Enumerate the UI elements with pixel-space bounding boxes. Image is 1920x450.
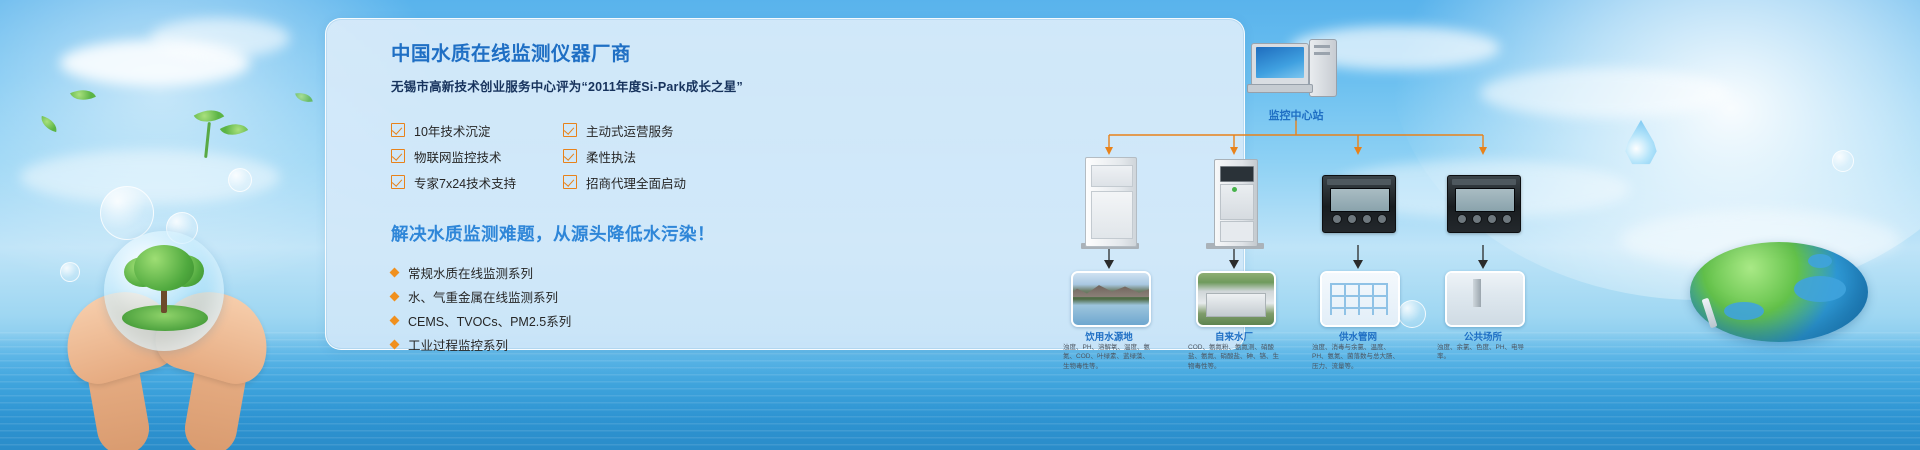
- scene-description: COD、氨氮粉、氨氮测、硝酸盐、氨氮、硝酸盐、砷、铬、生物毒性等。: [1188, 343, 1280, 371]
- feature-label: 招商代理全面启动: [586, 173, 686, 192]
- status-led-icon: [1232, 187, 1237, 192]
- device-panel: [1220, 184, 1254, 220]
- diamond-bullet-icon: [390, 339, 400, 349]
- scene-photo: [1445, 271, 1525, 327]
- scene-photo-art: [1073, 273, 1149, 325]
- pc-screen-content: [1256, 47, 1304, 78]
- section-headline: 解决水质监测难题，从源头降低水污染！: [391, 221, 761, 246]
- feature-label: 柔性执法: [586, 147, 636, 166]
- controller-buttons: [1457, 214, 1512, 224]
- product-line-list: 常规水质在线监测系列 水、气重金属在线监测系列 CEMS、TVOCs、PM2.5…: [391, 260, 761, 356]
- device-black-controller-2: [1441, 157, 1525, 249]
- cloud-icon: [150, 18, 290, 58]
- scene-photo-art: [1447, 273, 1523, 325]
- cabinet-body: [1085, 157, 1137, 247]
- device-grey-cabinet: [1192, 157, 1276, 249]
- controller-buttons: [1332, 214, 1387, 224]
- pc-monitor-icon: [1251, 43, 1309, 86]
- product-line-label: 水、气重金属在线监测系列: [408, 287, 558, 306]
- controller-top-strip: [1327, 179, 1391, 185]
- copy-block: 中国水质在线监测仪器厂商 无锡市高新技术创业服务中心评为“2011年度Si-Pa…: [391, 43, 761, 356]
- controller-body: [1447, 175, 1521, 233]
- feature-item: 柔性执法: [563, 143, 725, 169]
- content-card: 中国水质在线监测仪器厂商 无锡市高新技术创业服务中心评为“2011年度Si-Pa…: [325, 18, 1245, 350]
- feature-checklist: 10年技术沉淀 主动式运营服务 物联网监控技术 柔性执法 专家7x24技术支持: [391, 117, 761, 195]
- checkbox-checked-icon: [391, 175, 405, 189]
- scene-caption: 饮用水源地: [1054, 329, 1164, 343]
- feature-label: 专家7x24技术支持: [414, 173, 516, 192]
- feature-item: 招商代理全面启动: [563, 169, 725, 195]
- water-drop-icon: [1624, 120, 1658, 166]
- device-panel: [1220, 221, 1254, 242]
- stem-icon: [204, 122, 211, 158]
- globe-water-patch: [1808, 254, 1832, 268]
- pc-keyboard-icon: [1247, 84, 1313, 93]
- device-black-controller-1: [1316, 157, 1400, 249]
- controller-display: [1330, 188, 1390, 212]
- product-line-label: CEMS、TVOCs、PM2.5系列: [408, 311, 571, 330]
- device-display: [1220, 166, 1254, 182]
- feature-item: 主动式运营服务: [563, 117, 725, 143]
- feature-item: 专家7x24技术支持: [391, 169, 553, 195]
- leaf-icon: [220, 117, 248, 142]
- bubble-icon: [1832, 150, 1854, 172]
- green-globe-illustration: [1690, 236, 1868, 348]
- product-line-label: 工业过程监控系列: [408, 335, 508, 354]
- controller-top-strip: [1452, 179, 1516, 185]
- scene-photo: [1320, 271, 1400, 327]
- feature-label: 物联网监控技术: [414, 147, 502, 166]
- scene-description: 浊度、消毒与余氯、温度、PH、氨氮、菌落数与总大肠、压力、流量等。: [1312, 343, 1404, 371]
- tree-foliage-icon: [134, 245, 194, 291]
- scene-description: 浊度、PH、溶解氧、温度、氨氮、COD、叶绿素、蓝绿藻、生物毒性等。: [1063, 343, 1155, 371]
- product-line-label: 常规水质在线监测系列: [408, 263, 533, 282]
- scene-photo: [1071, 271, 1151, 327]
- scene-caption: 供水管网: [1303, 329, 1413, 343]
- checkbox-checked-icon: [563, 175, 577, 189]
- scene-description: 浊度、余氯、色度、PH、电导率。: [1437, 343, 1529, 362]
- scene-photo-art: [1322, 273, 1398, 325]
- diamond-bullet-icon: [390, 315, 400, 325]
- monitoring-topology-diagram: 监控中心站: [1061, 31, 1531, 349]
- cabinet-body: [1214, 159, 1258, 247]
- page-title: 中国水质在线监测仪器厂商: [391, 43, 761, 66]
- controller-body: [1322, 175, 1396, 233]
- pc-tower-icon: [1309, 39, 1337, 97]
- diamond-bullet-icon: [390, 291, 400, 301]
- hands-holding-tree-illustration: [62, 225, 282, 425]
- scene-caption: 公共场所: [1428, 329, 1538, 343]
- checkbox-checked-icon: [563, 123, 577, 137]
- cloud-icon: [60, 40, 250, 86]
- device-white-cabinet: [1067, 157, 1151, 249]
- bubble-icon: [228, 168, 252, 192]
- list-item: CEMS、TVOCs、PM2.5系列: [391, 308, 761, 332]
- checkbox-checked-icon: [563, 149, 577, 163]
- scene-photo: [1196, 271, 1276, 327]
- list-item: 常规水质在线监测系列: [391, 260, 761, 284]
- monitoring-center-computer-icon: [1251, 43, 1343, 101]
- leaf-icon: [39, 116, 59, 132]
- page-subtitle: 无锡市高新技术创业服务中心评为“2011年度Si-Park成长之星”: [391, 76, 761, 95]
- scene-photo-art: [1198, 273, 1274, 325]
- feature-label: 主动式运营服务: [586, 121, 674, 140]
- checkbox-checked-icon: [391, 149, 405, 163]
- leaf-icon: [295, 91, 313, 105]
- leaf-icon: [70, 84, 96, 106]
- diamond-bullet-icon: [390, 267, 400, 277]
- globe-water-patch: [1724, 302, 1764, 320]
- list-item: 工业过程监控系列: [391, 332, 761, 356]
- scene-caption: 自来水厂: [1179, 329, 1289, 343]
- center-station-label: 监控中心站: [1221, 107, 1371, 123]
- feature-item: 物联网监控技术: [391, 143, 553, 169]
- list-item: 水、气重金属在线监测系列: [391, 284, 761, 308]
- controller-display: [1455, 188, 1515, 212]
- feature-item: 10年技术沉淀: [391, 117, 553, 143]
- banner-stage: 中国水质在线监测仪器厂商 无锡市高新技术创业服务中心评为“2011年度Si-Pa…: [0, 0, 1920, 450]
- checkbox-checked-icon: [391, 123, 405, 137]
- feature-label: 10年技术沉淀: [414, 121, 490, 140]
- globe-water-patch: [1794, 276, 1846, 302]
